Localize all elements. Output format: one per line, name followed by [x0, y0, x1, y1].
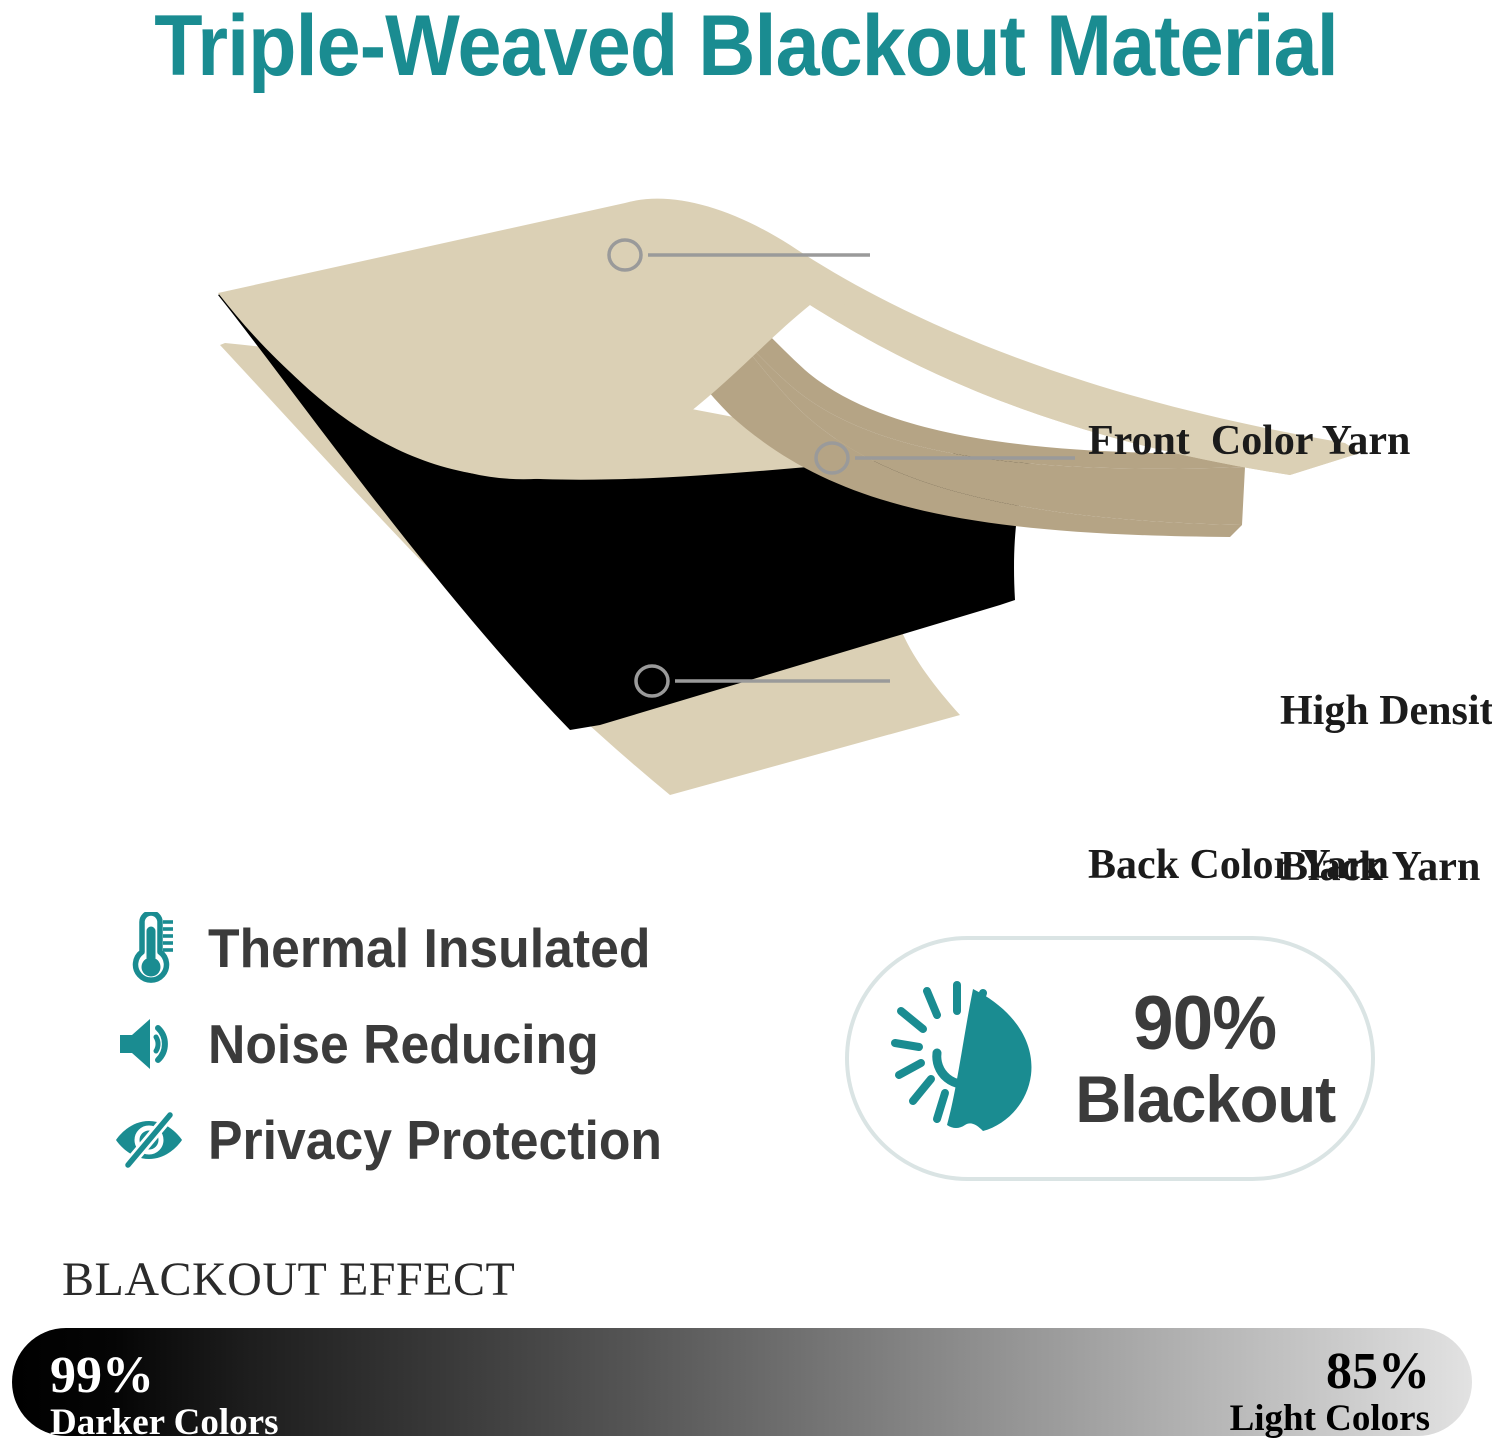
feature-label-thermal-insulated: Thermal Insulated [208, 919, 650, 977]
feature-item-privacy-protection: Privacy Protection [112, 1092, 812, 1188]
feature-item-thermal-insulated: Thermal Insulated [112, 900, 812, 996]
badge-percent: 90% [1133, 986, 1276, 1062]
fabric-layers-diagram: Front Color Yarn High Density Black Yarn… [170, 185, 1370, 795]
callout-label-front-color-yarn: Front Color Yarn [1088, 415, 1410, 467]
darker-colors-caption: Darker Colors [50, 1402, 278, 1441]
callout-label-back-color-yarn: Back Color Yarn [1088, 839, 1389, 891]
eye-slash-icon [112, 1103, 186, 1177]
blackout-effect-heading: BLACKOUT EFFECT [62, 1254, 515, 1306]
badge-word: Blackout [1075, 1066, 1335, 1132]
feature-list: Thermal Insulated Noise Reducing [112, 900, 812, 1188]
feature-item-noise-reducing: Noise Reducing [112, 996, 812, 1092]
badge-text-block: 90% Blackout [1070, 986, 1341, 1132]
feature-label-noise-reducing: Noise Reducing [208, 1015, 599, 1073]
blackout-percentage-badge: 90% Blackout [845, 936, 1375, 1181]
infographic-page: Triple-Weaved Blackout Material [0, 0, 1492, 1441]
light-colors-percent: 85% [1230, 1346, 1430, 1398]
bar-label-darker-colors: 99% Darker Colors [50, 1350, 278, 1441]
callout-label-high-density-black-yarn: High Density Black Yarn [1280, 581, 1492, 997]
sound-speaker-icon [112, 1007, 186, 1081]
bar-label-light-colors: 85% Light Colors [1230, 1346, 1430, 1440]
sun-curtain-icon [880, 974, 1060, 1144]
darker-colors-percent: 99% [50, 1350, 278, 1402]
light-colors-caption: Light Colors [1230, 1398, 1430, 1440]
feature-label-privacy-protection: Privacy Protection [208, 1111, 662, 1169]
callout-label-line-1: High Density [1280, 685, 1492, 737]
page-title: Triple-Weaved Blackout Material [60, 0, 1433, 98]
thermometer-icon [112, 911, 186, 985]
